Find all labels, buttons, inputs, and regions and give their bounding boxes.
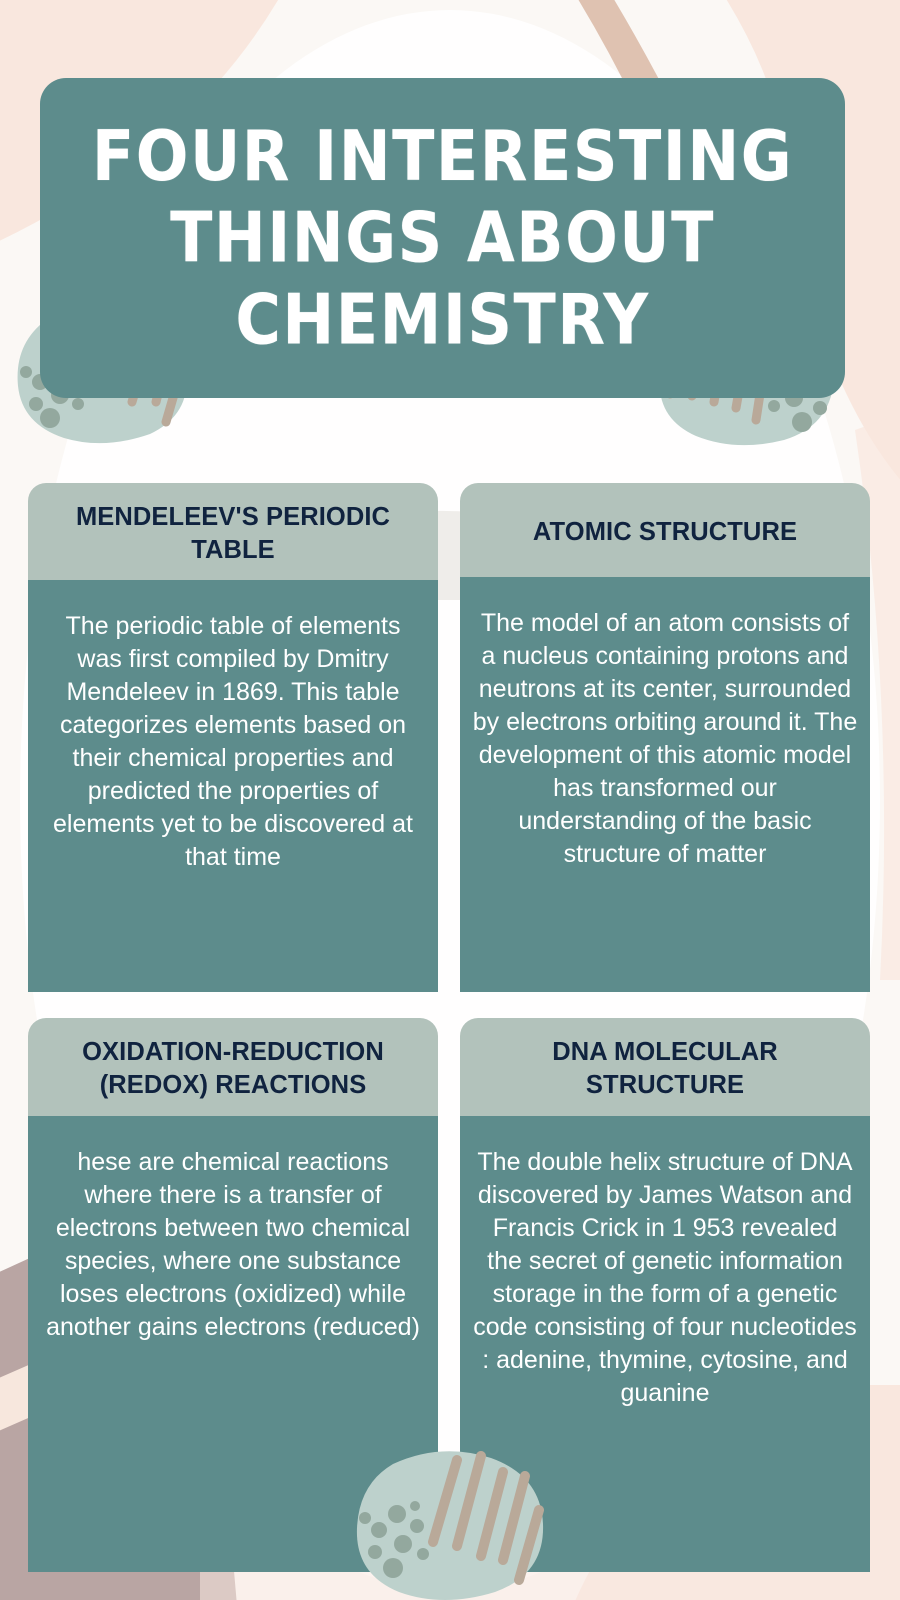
card-heading: MENDELEEV'S PERIODIC TABLE (28, 483, 438, 580)
card-heading: OXIDATION-REDUCTION (REDOX) REACTIONS (28, 1018, 438, 1115)
leafy-bush-icon (345, 1438, 560, 1600)
page-title: FOUR INTERESTING THINGS ABOUT CHEMISTRY (66, 115, 819, 361)
fact-card-atomic-structure: ATOMIC STRUCTURE The model of an atom co… (460, 483, 870, 992)
infographic-poster: FOUR INTERESTING THINGS ABOUT CHEMISTRY … (0, 0, 900, 1600)
card-heading: ATOMIC STRUCTURE (460, 483, 870, 577)
title-card: FOUR INTERESTING THINGS ABOUT CHEMISTRY (40, 78, 845, 398)
title-line-2: THINGS ABOUT (92, 197, 793, 279)
card-body-text: The model of an atom consists of a nucle… (460, 577, 870, 992)
title-line-1: FOUR INTERESTING (92, 115, 793, 197)
card-body-text: The periodic table of elements was first… (28, 580, 438, 992)
fact-card-mendeleevs-periodic-table: MENDELEEV'S PERIODIC TABLE The periodic … (28, 483, 438, 992)
title-line-3: CHEMISTRY (92, 279, 793, 361)
bush-bottom-center (345, 1438, 560, 1600)
fact-card-grid: MENDELEEV'S PERIODIC TABLE The periodic … (28, 483, 873, 1572)
card-heading: DNA MOLECULAR STRUCTURE (460, 1018, 870, 1115)
